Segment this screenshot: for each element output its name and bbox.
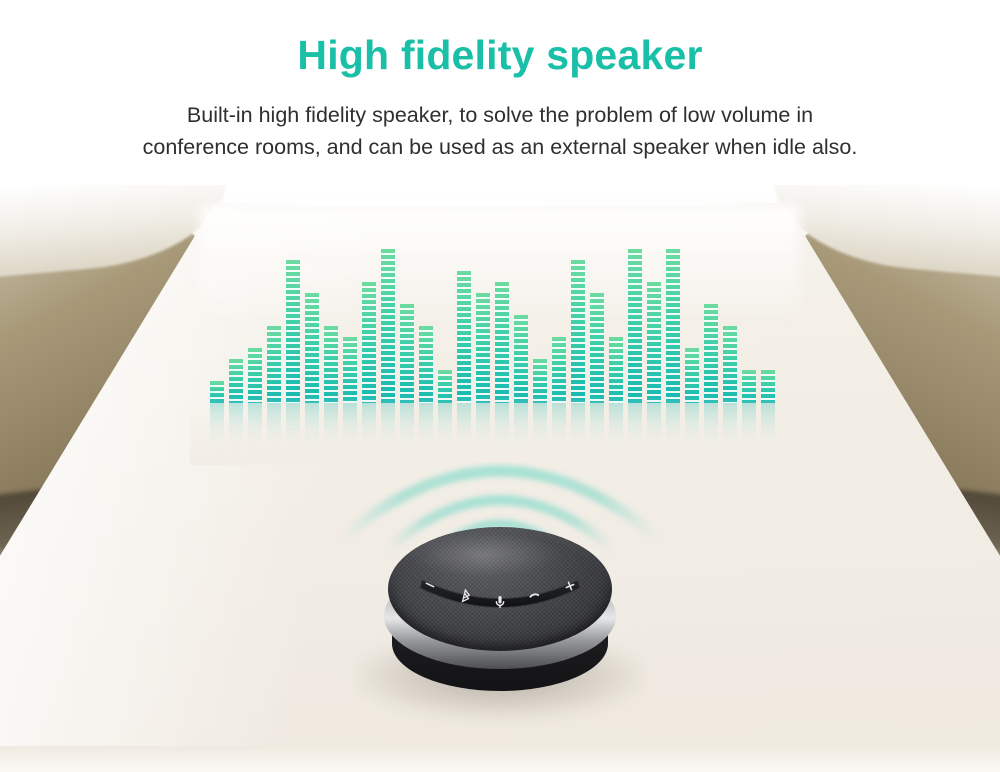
equalizer-bar <box>495 282 509 403</box>
equalizer-bar <box>628 249 642 403</box>
speaker-control-strip[interactable] <box>418 575 582 615</box>
equalizer-bar-segments <box>457 271 471 403</box>
subtitle-line-2: conference rooms, and can be used as an … <box>90 131 910 163</box>
equalizer-bar <box>267 326 281 403</box>
table-far-edge <box>210 202 790 206</box>
equalizer-bar-segments <box>628 249 642 403</box>
equalizer-bar <box>210 381 224 403</box>
equalizer-bar <box>533 359 547 403</box>
equalizer-bar-reflection <box>305 403 319 459</box>
equalizer-bar-reflection <box>723 403 737 459</box>
equalizer-bar <box>457 271 471 403</box>
equalizer-bar <box>590 293 604 403</box>
equalizer-bar <box>419 326 433 403</box>
equalizer-reflection-tint <box>742 403 756 459</box>
equalizer-bar-reflection <box>210 403 224 459</box>
equalizer-bar-segments <box>419 326 433 403</box>
equalizer-bar-reflection <box>761 403 775 459</box>
equalizer-reflection-tint <box>685 403 699 459</box>
equalizer-bar <box>514 315 528 403</box>
equalizer-bar-segments <box>324 326 338 403</box>
page-subtitle: Built-in high fidelity speaker, to solve… <box>90 99 910 163</box>
equalizer-bar-segments <box>229 359 243 403</box>
equalizer-bar-segments <box>647 282 661 403</box>
equalizer-bar <box>571 260 585 403</box>
equalizer-bar-segments <box>514 315 528 403</box>
equalizer-bar <box>647 282 661 403</box>
equalizer-bar <box>305 293 319 403</box>
equalizer-reflection-tint <box>248 403 262 459</box>
equalizer-bar <box>704 304 718 403</box>
equalizer-bar <box>400 304 414 403</box>
equalizer-bar-segments <box>495 282 509 403</box>
equalizer-reflection-tint <box>267 403 281 459</box>
equalizer-bar <box>248 348 262 403</box>
speaker-gloss-highlight <box>408 532 558 576</box>
product-scene <box>0 183 1000 772</box>
equalizer-bar-segments <box>286 260 300 403</box>
equalizer-bar-segments <box>552 337 566 403</box>
equalizer-bar-segments <box>723 326 737 403</box>
equalizer-bar-segments <box>685 348 699 403</box>
equalizer-bar-segments <box>267 326 281 403</box>
equalizer-bar <box>381 249 395 403</box>
floor-strip <box>0 746 1000 772</box>
equalizer-bar <box>286 260 300 403</box>
equalizer-bar-segments <box>533 359 547 403</box>
control-strip-curve <box>420 580 580 608</box>
audio-equalizer <box>210 223 790 403</box>
equalizer-bar-reflection <box>229 403 243 459</box>
page-title: High fidelity speaker <box>0 32 1000 79</box>
equalizer-reflection-tint <box>704 403 718 459</box>
product-feature-panel: High fidelity speaker Built-in high fide… <box>0 0 1000 772</box>
header-block: High fidelity speaker Built-in high fide… <box>0 0 1000 185</box>
equalizer-bar <box>742 370 756 403</box>
equalizer-bar-segments <box>248 348 262 403</box>
conference-speakerphone[interactable] <box>374 523 626 698</box>
equalizer-bar-segments <box>438 370 452 403</box>
equalizer-bar-segments <box>381 249 395 403</box>
equalizer-bar-segments <box>609 337 623 403</box>
equalizer-reflection-tint <box>210 403 224 459</box>
equalizer-bar-segments <box>400 304 414 403</box>
equalizer-bar <box>438 370 452 403</box>
equalizer-bar <box>685 348 699 403</box>
equalizer-bar <box>324 326 338 403</box>
equalizer-bar <box>476 293 490 403</box>
equalizer-bar <box>229 359 243 403</box>
equalizer-bar-segments <box>742 370 756 403</box>
equalizer-bar-reflection <box>742 403 756 459</box>
equalizer-bar-segments <box>305 293 319 403</box>
equalizer-bar-reflection <box>704 403 718 459</box>
equalizer-reflection-tint <box>723 403 737 459</box>
equalizer-bar-segments <box>704 304 718 403</box>
equalizer-bar-reflection <box>685 403 699 459</box>
equalizer-bar <box>343 337 357 403</box>
equalizer-bar-segments <box>476 293 490 403</box>
equalizer-bar-reflection <box>267 403 281 459</box>
equalizer-bar-segments <box>210 381 224 403</box>
subtitle-line-1: Built-in high fidelity speaker, to solve… <box>90 99 910 131</box>
equalizer-reflection-tint <box>229 403 243 459</box>
equalizer-bar-reflection <box>286 403 300 459</box>
equalizer-bar <box>552 337 566 403</box>
equalizer-bar <box>723 326 737 403</box>
equalizer-bar-segments <box>590 293 604 403</box>
equalizer-reflection-tint <box>761 403 775 459</box>
equalizer-bar-segments <box>343 337 357 403</box>
equalizer-bar-segments <box>571 260 585 403</box>
equalizer-reflection-tint <box>286 403 300 459</box>
equalizer-bar <box>761 370 775 403</box>
equalizer-bar-segments <box>761 370 775 403</box>
control-strip-shape <box>418 575 582 615</box>
equalizer-bar-segments <box>666 249 680 403</box>
equalizer-bar <box>609 337 623 403</box>
equalizer-bar <box>362 282 376 403</box>
equalizer-reflection-tint <box>305 403 319 459</box>
equalizer-bar-reflection <box>248 403 262 459</box>
equalizer-bar-segments <box>362 282 376 403</box>
equalizer-bar <box>666 249 680 403</box>
